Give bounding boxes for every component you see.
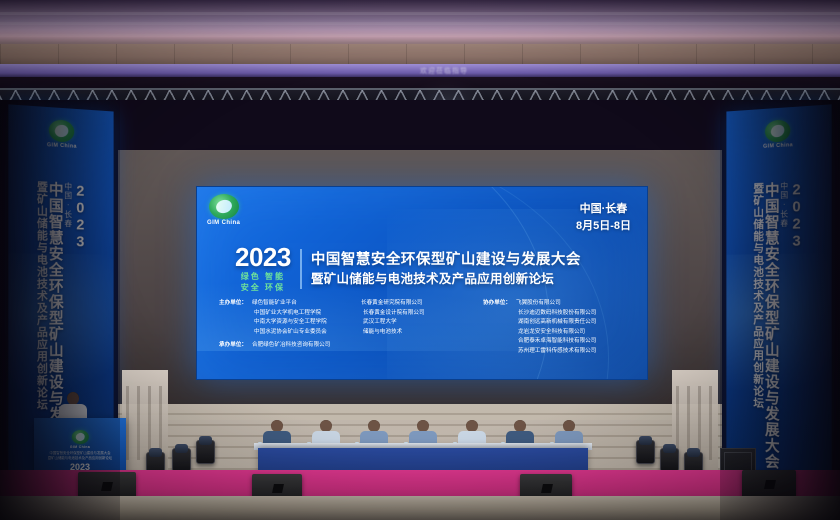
screen-dates: 8月5日-8日: [576, 218, 631, 235]
sponsor-row: 中国水泥协会矿山专业委员会 储能与电池技术: [219, 328, 469, 338]
host-col1-item: 绿色智能矿业平台: [252, 299, 356, 309]
screen-title-row: 2023 绿色 智能 安全 环保 中国智慧安全环保型矿山建设与发展大会 暨矿山储…: [235, 245, 581, 294]
sponsor-row: 主办单位： 绿色智能矿业平台 长春黄金研究院有限公司: [219, 299, 469, 309]
coorg-row: 湖南创远高新机械有限责任公司: [483, 318, 629, 328]
screen-title-sub: 暨矿山储能与电池技术及产品应用创新论坛: [311, 271, 581, 287]
tagline-line-1: 绿色 智能: [235, 272, 291, 283]
sponsor-host-column: 主办单位： 绿色智能矿业平台 长春黄金研究院有限公司 中国矿业大学机电工程学院 …: [219, 299, 469, 357]
host-col1-item: 中国矿业大学机电工程学院: [254, 309, 358, 319]
floor-moving-light-icon: [172, 448, 191, 472]
organizer-label: 承办单位：: [219, 341, 247, 351]
screen-city-date-block: 中国·长春 8月5日-8日: [576, 201, 631, 235]
main-led-screen: GIM China 中国·长春 8月5日-8日 2023 绿色 智能 安全 环保…: [196, 186, 648, 380]
host-col2-item: 储能与电池技术: [363, 328, 469, 338]
organizer-value: 合肥绿色矿冶科技咨询有限公司: [252, 341, 330, 351]
screen-year-block: 2023 绿色 智能 安全 环保: [235, 245, 291, 294]
host-col1-item: 中国水泥协会矿山专业委员会: [254, 328, 358, 338]
gim-logo-text: GIM China: [207, 220, 240, 226]
ceiling-stripe: [0, 12, 840, 15]
title-divider: [300, 249, 302, 289]
gim-ring-icon: [209, 194, 239, 219]
host-col2-item: 武汉工程大学: [363, 318, 469, 328]
coorg-label: 协办单位：: [483, 299, 511, 309]
host-label: 主办单位：: [219, 299, 247, 309]
screen-title-main: 中国智慧安全环保型矿山建设与发展大会: [311, 251, 581, 269]
sponsor-coorg-column: 协办单位： 飞翼股份有限公司 长沙迪迈数码科技股份有限公司 湖南创远高新机械有限…: [483, 299, 629, 357]
organizer-row: 承办单位： 合肥绿色矿冶科技咨询有限公司: [219, 341, 469, 351]
stage-front-edge: [0, 496, 840, 520]
ceiling-stripe: [0, 34, 840, 37]
right-shadow-overlay: [720, 100, 840, 520]
coorg-item: 飞翼股份有限公司: [516, 299, 561, 309]
left-shadow-overlay: [0, 100, 120, 520]
coorg-item: 龙岩龙安安全科技有限公司: [518, 328, 585, 338]
coorg-row: 龙岩龙安安全科技有限公司: [483, 328, 629, 338]
coorg-item: 湖南创远高新机械有限责任公司: [518, 318, 596, 328]
sponsor-row: 中国矿业大学机电工程学院 长春黄金设计院有限公司: [219, 309, 469, 319]
ceiling-stripe: [0, 22, 840, 25]
coorg-item: 苏州理工雷科传感技术有限公司: [518, 347, 596, 357]
screen-city: 中国·长春: [576, 201, 631, 218]
venue-banner-text: 欢迎莅临指导: [420, 66, 720, 76]
host-col2-item: 长春黄金设计院有限公司: [363, 309, 469, 319]
coorg-row: 苏州理工雷科传感技术有限公司: [483, 347, 629, 357]
floor-moving-light-icon: [660, 448, 679, 472]
coorg-item: 长沙迪迈数码科技股份有限公司: [518, 309, 596, 319]
coorg-row: 长沙迪迈数码科技股份有限公司: [483, 309, 629, 319]
screen-logo: GIM China: [207, 194, 240, 229]
sponsor-row: 中南大学资源与安全工程学院 武汉工程大学: [219, 318, 469, 328]
host-col1-item: 中南大学资源与安全工程学院: [254, 318, 358, 328]
screen-titles: 中国智慧安全环保型矿山建设与发展大会 暨矿山储能与电池技术及产品应用创新论坛: [311, 251, 581, 287]
host-col2-item: 长春黄金研究院有限公司: [361, 299, 469, 309]
conference-stage-photo: 欢迎莅临指导: [0, 0, 840, 520]
coorg-row: 合肥泰禾卓海智能科技有限公司: [483, 337, 629, 347]
coorg-item: 合肥泰禾卓海智能科技有限公司: [518, 337, 596, 347]
sponsor-block: 主办单位： 绿色智能矿业平台 长春黄金研究院有限公司 中国矿业大学机电工程学院 …: [219, 299, 629, 357]
floor-moving-light-icon: [196, 440, 215, 464]
floor-moving-light-icon: [636, 440, 655, 464]
ceiling-architecture: 欢迎莅临指导: [0, 0, 840, 78]
tagline-line-2: 安全 环保: [235, 283, 291, 294]
gim-logo-icon: GIM China: [207, 194, 240, 226]
coorg-row: 协办单位： 飞翼股份有限公司: [483, 299, 629, 309]
screen-tagline: 绿色 智能 安全 环保: [235, 272, 291, 294]
screen-year: 2023: [235, 245, 291, 270]
upper-wall-band: [0, 44, 840, 66]
